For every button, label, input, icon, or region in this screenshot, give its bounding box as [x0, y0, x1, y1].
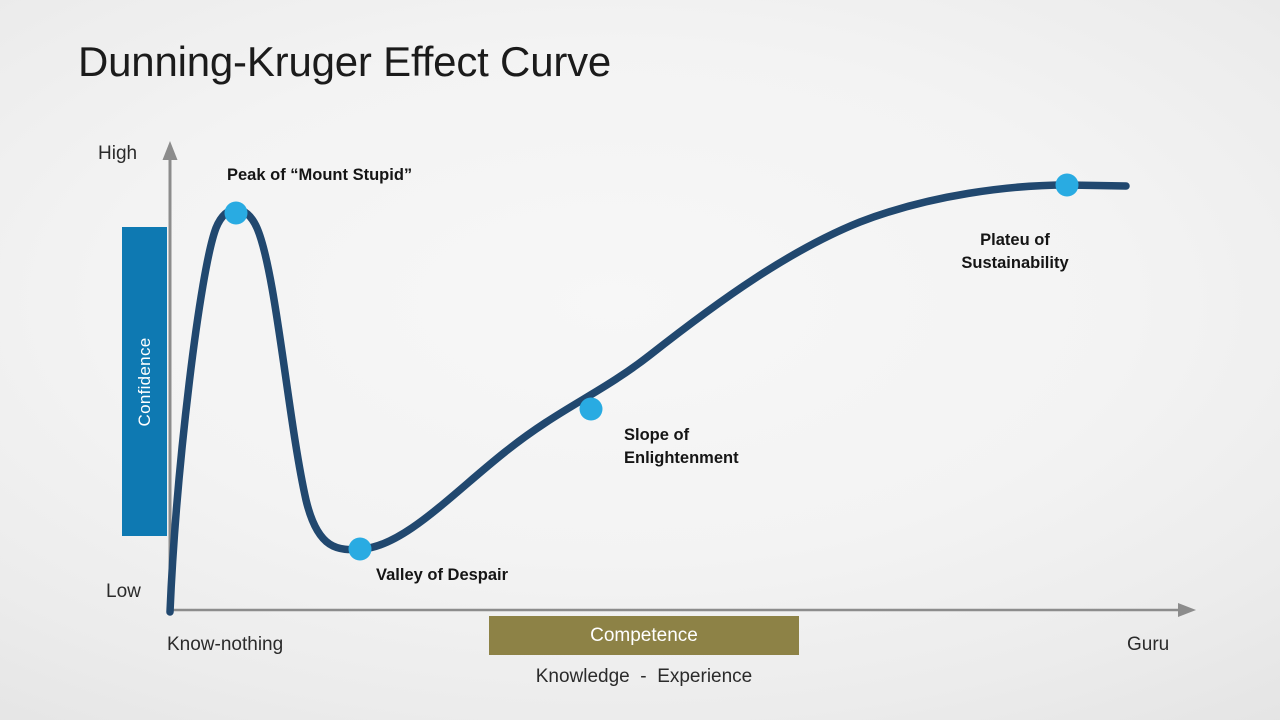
dunning-kruger-chart — [0, 0, 1280, 720]
annotation-valley-of-despair: Valley of Despair — [376, 564, 508, 587]
marker-plateau — [1056, 174, 1079, 197]
y-axis-high-label: High — [98, 143, 137, 165]
confidence-band-label: Confidence — [135, 337, 155, 426]
y-axis-low-label: Low — [106, 581, 141, 603]
confidence-band: Confidence — [122, 227, 167, 536]
marker-peak — [225, 202, 248, 225]
competence-band: Competence — [489, 616, 799, 655]
annotation-peak-of-mount-stupid: Peak of “Mount Stupid” — [227, 164, 412, 187]
competence-band-label: Competence — [590, 625, 698, 647]
marker-slope — [580, 398, 603, 421]
x-axis-end-label: Guru — [1127, 634, 1169, 656]
slide-canvas: Dunning-Kruger Effect Curve High Low Kno… — [0, 0, 1280, 720]
marker-valley — [349, 538, 372, 561]
annotation-plateu-of-sustainability: Plateu of Sustainability — [955, 229, 1075, 276]
x-axis-caption: Knowledge - Experience — [489, 666, 799, 688]
x-axis-start-label: Know-nothing — [167, 634, 283, 656]
x-axis — [170, 603, 1196, 617]
annotation-slope-of-enlightenment: Slope of Enlightenment — [624, 424, 739, 471]
